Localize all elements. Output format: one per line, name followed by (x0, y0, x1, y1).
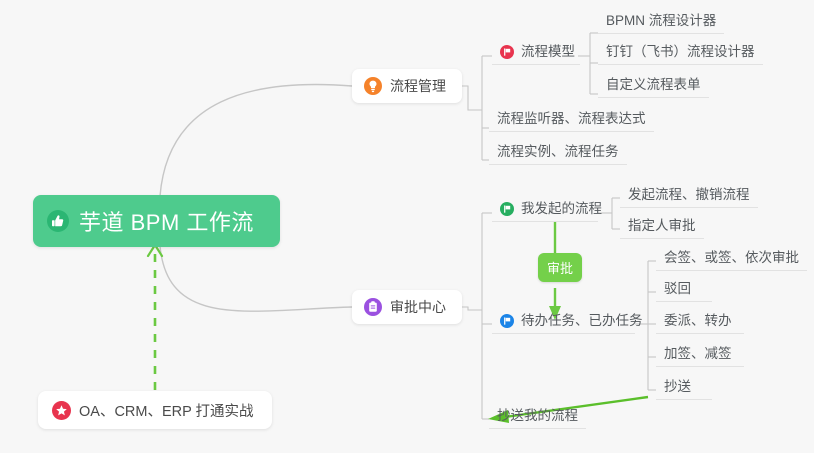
leaf-assigned-approval[interactable]: 指定人审批 (620, 215, 704, 239)
flag-icon (500, 45, 514, 59)
branch-label-approval-center: 审批中心 (390, 297, 446, 317)
leaf-delegate-transfer[interactable]: 委派、转办 (656, 310, 744, 334)
branch-label-flow-management: 流程管理 (390, 76, 446, 96)
leaf-add-remove-sign-label: 加签、减签 (664, 346, 732, 361)
branch-node-flow-management[interactable]: 流程管理 (352, 69, 462, 103)
leaf-instance-task[interactable]: 流程实例、流程任务 (489, 141, 627, 165)
leaf-dingtalk-designer-label: 钉钉（飞书）流程设计器 (606, 44, 755, 59)
leaf-cc-label: 抄送 (664, 379, 691, 394)
leaf-dingtalk-designer[interactable]: 钉钉（飞书）流程设计器 (598, 41, 763, 65)
root-label: 芋道 BPM 工作流 (79, 205, 254, 237)
star-icon (52, 401, 71, 420)
leaf-countersign[interactable]: 会签、或签、依次审批 (656, 247, 807, 271)
leaf-cc-to-me-label: 抄送我的流程 (497, 408, 578, 423)
leaf-initiated-flows-label: 我发起的流程 (521, 201, 602, 217)
leaf-bpmn-designer-label: BPMN 流程设计器 (606, 13, 716, 28)
leaf-countersign-label: 会签、或签、依次审批 (664, 250, 799, 265)
integration-node-label: OA、CRM、ERP 打通实战 (79, 400, 254, 421)
leaf-flow-model-label: 流程模型 (521, 44, 575, 60)
lightbulb-icon (364, 77, 382, 95)
root-node[interactable]: 芋道 BPM 工作流 (33, 195, 280, 247)
leaf-todo-done-tasks-label: 待办任务、已办任务 (521, 313, 643, 329)
leaf-delegate-transfer-label: 委派、转办 (664, 313, 732, 328)
thumbs-up-icon (47, 210, 69, 232)
clipboard-icon (364, 298, 382, 316)
leaf-add-remove-sign[interactable]: 加签、减签 (656, 343, 744, 367)
leaf-listener-expression[interactable]: 流程监听器、流程表达式 (489, 108, 654, 132)
connector-root-to-flow-management (160, 84, 352, 196)
leaf-cc[interactable]: 抄送 (656, 376, 712, 400)
flag-icon (500, 202, 514, 216)
leaf-listener-expression-label: 流程监听器、流程表达式 (497, 111, 646, 126)
leaf-bpmn-designer[interactable]: BPMN 流程设计器 (598, 10, 724, 34)
approval-tag: 审批 (538, 253, 582, 282)
leaf-initiated-flows[interactable]: 我发起的流程 (492, 198, 598, 222)
leaf-reject-label: 驳回 (664, 281, 691, 296)
flag-icon (500, 314, 514, 328)
leaf-cc-to-me[interactable]: 抄送我的流程 (489, 405, 586, 429)
leaf-start-cancel-flow[interactable]: 发起流程、撤销流程 (620, 184, 758, 208)
leaf-start-cancel-flow-label: 发起流程、撤销流程 (628, 187, 750, 202)
connector-root-to-approval-center (160, 246, 352, 311)
leaf-todo-done-tasks[interactable]: 待办任务、已办任务 (492, 310, 635, 334)
leaf-reject[interactable]: 驳回 (656, 278, 712, 302)
leaf-custom-form[interactable]: 自定义流程表单 (598, 74, 709, 98)
leaf-flow-model[interactable]: 流程模型 (492, 41, 580, 65)
approval-tag-label: 审批 (547, 261, 573, 276)
leaf-assigned-approval-label: 指定人审批 (628, 218, 696, 233)
mindmap-canvas: 芋道 BPM 工作流 流程管理 审批中心 (0, 0, 814, 453)
integration-node[interactable]: OA、CRM、ERP 打通实战 (38, 391, 272, 429)
leaf-custom-form-label: 自定义流程表单 (606, 77, 701, 92)
leaf-instance-task-label: 流程实例、流程任务 (497, 144, 619, 159)
branch-node-approval-center[interactable]: 审批中心 (352, 290, 462, 324)
